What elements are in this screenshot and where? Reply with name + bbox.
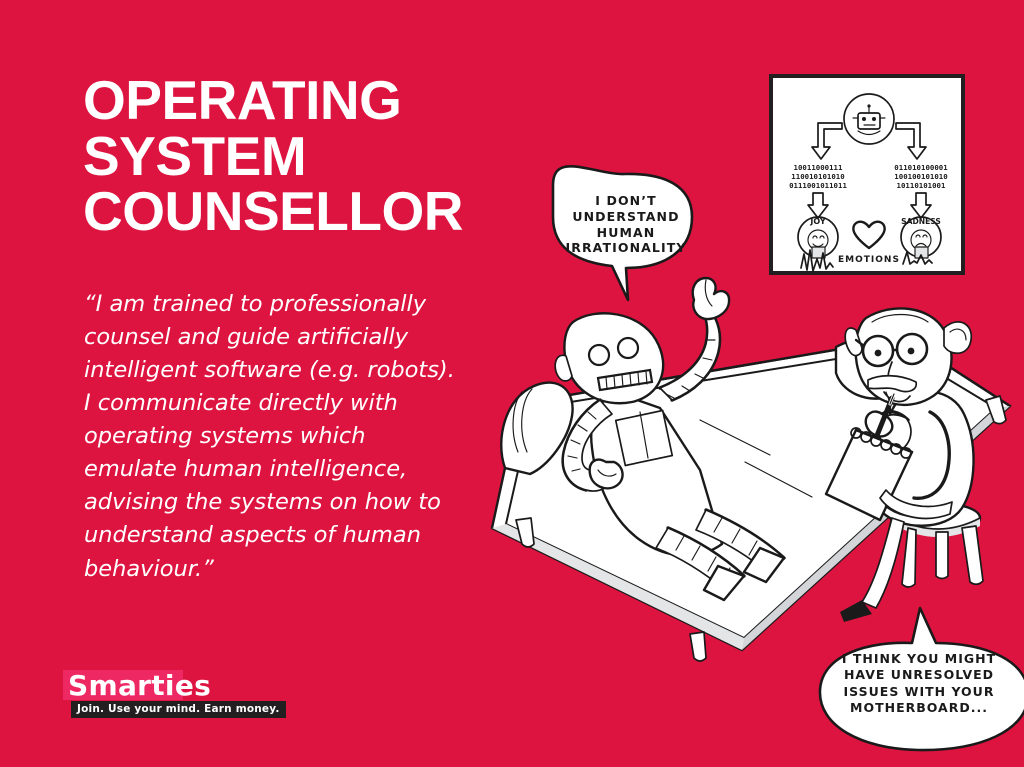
heart-icon <box>853 222 884 248</box>
smarties-logo[interactable]: Smarties Join. Use your mind. Earn money… <box>63 670 241 720</box>
svg-text:10011000111: 10011000111 <box>794 163 843 172</box>
robot-bubble-line-4: IRRATIONALITY <box>560 240 692 256</box>
binary-block-left: 10011000111 110010101010 0111001011011 <box>789 163 847 190</box>
logo-tagline: Join. Use your mind. Earn money. <box>77 703 280 715</box>
svg-text:011010100001: 011010100001 <box>894 163 948 172</box>
svg-text:10110101001: 10110101001 <box>897 181 946 190</box>
couch <box>492 336 1010 661</box>
counsellor-character <box>826 308 983 622</box>
svg-text:100100101010: 100100101010 <box>894 172 947 181</box>
robot-character <box>555 278 784 600</box>
svg-text:110010101010: 110010101010 <box>791 172 844 181</box>
logo-wordmark: Smarties <box>68 669 211 702</box>
poster-label-sadness: SADNESS <box>901 217 941 226</box>
slide-canvas: OPERATING SYSTEM COUNSELLOR “I am traine… <box>0 0 1024 767</box>
binary-block-right: 011010100001 100100101010 10110101001 <box>894 163 948 190</box>
title-line-2: SYSTEM <box>83 129 553 185</box>
robot-bubble-text: I DON’T UNDERSTAND HUMAN IRRATIONALITY <box>560 193 692 256</box>
poster-diagram: 10011000111 110010101010 0111001011011 0… <box>771 76 963 273</box>
notepad <box>826 428 912 520</box>
page-title: OPERATING SYSTEM COUNSELLOR <box>83 73 553 240</box>
quote-text: “I am trained to professionally counsel … <box>84 288 464 586</box>
title-line-1: OPERATING <box>83 73 553 129</box>
stool <box>896 503 983 587</box>
counsellor-bubble-line-2: HAVE UNRESOLVED <box>833 667 1005 683</box>
robot-bubble-line-2: UNDERSTAND <box>560 209 692 225</box>
counsellor-bubble-line-4: MOTHERBOARD... <box>833 700 1005 716</box>
robot-bubble-line-3: HUMAN <box>560 225 692 241</box>
poster-label-joy: JOY <box>809 217 825 226</box>
counsellor-bubble-line-1: I THINK YOU MIGHT <box>833 651 1005 667</box>
poster-label-emotions: EMOTIONS <box>838 255 900 265</box>
title-line-3: COUNSELLOR <box>83 184 553 240</box>
counsellor-bubble-text: I THINK YOU MIGHT HAVE UNRESOLVED ISSUES… <box>833 651 1005 716</box>
counsellor-bubble-line-3: ISSUES WITH YOUR <box>833 684 1005 700</box>
svg-text:0111001011011: 0111001011011 <box>789 181 847 190</box>
robot-bubble-line-1: I DON’T <box>560 193 692 209</box>
logo-tagline-bar: Join. Use your mind. Earn money. <box>71 701 286 718</box>
